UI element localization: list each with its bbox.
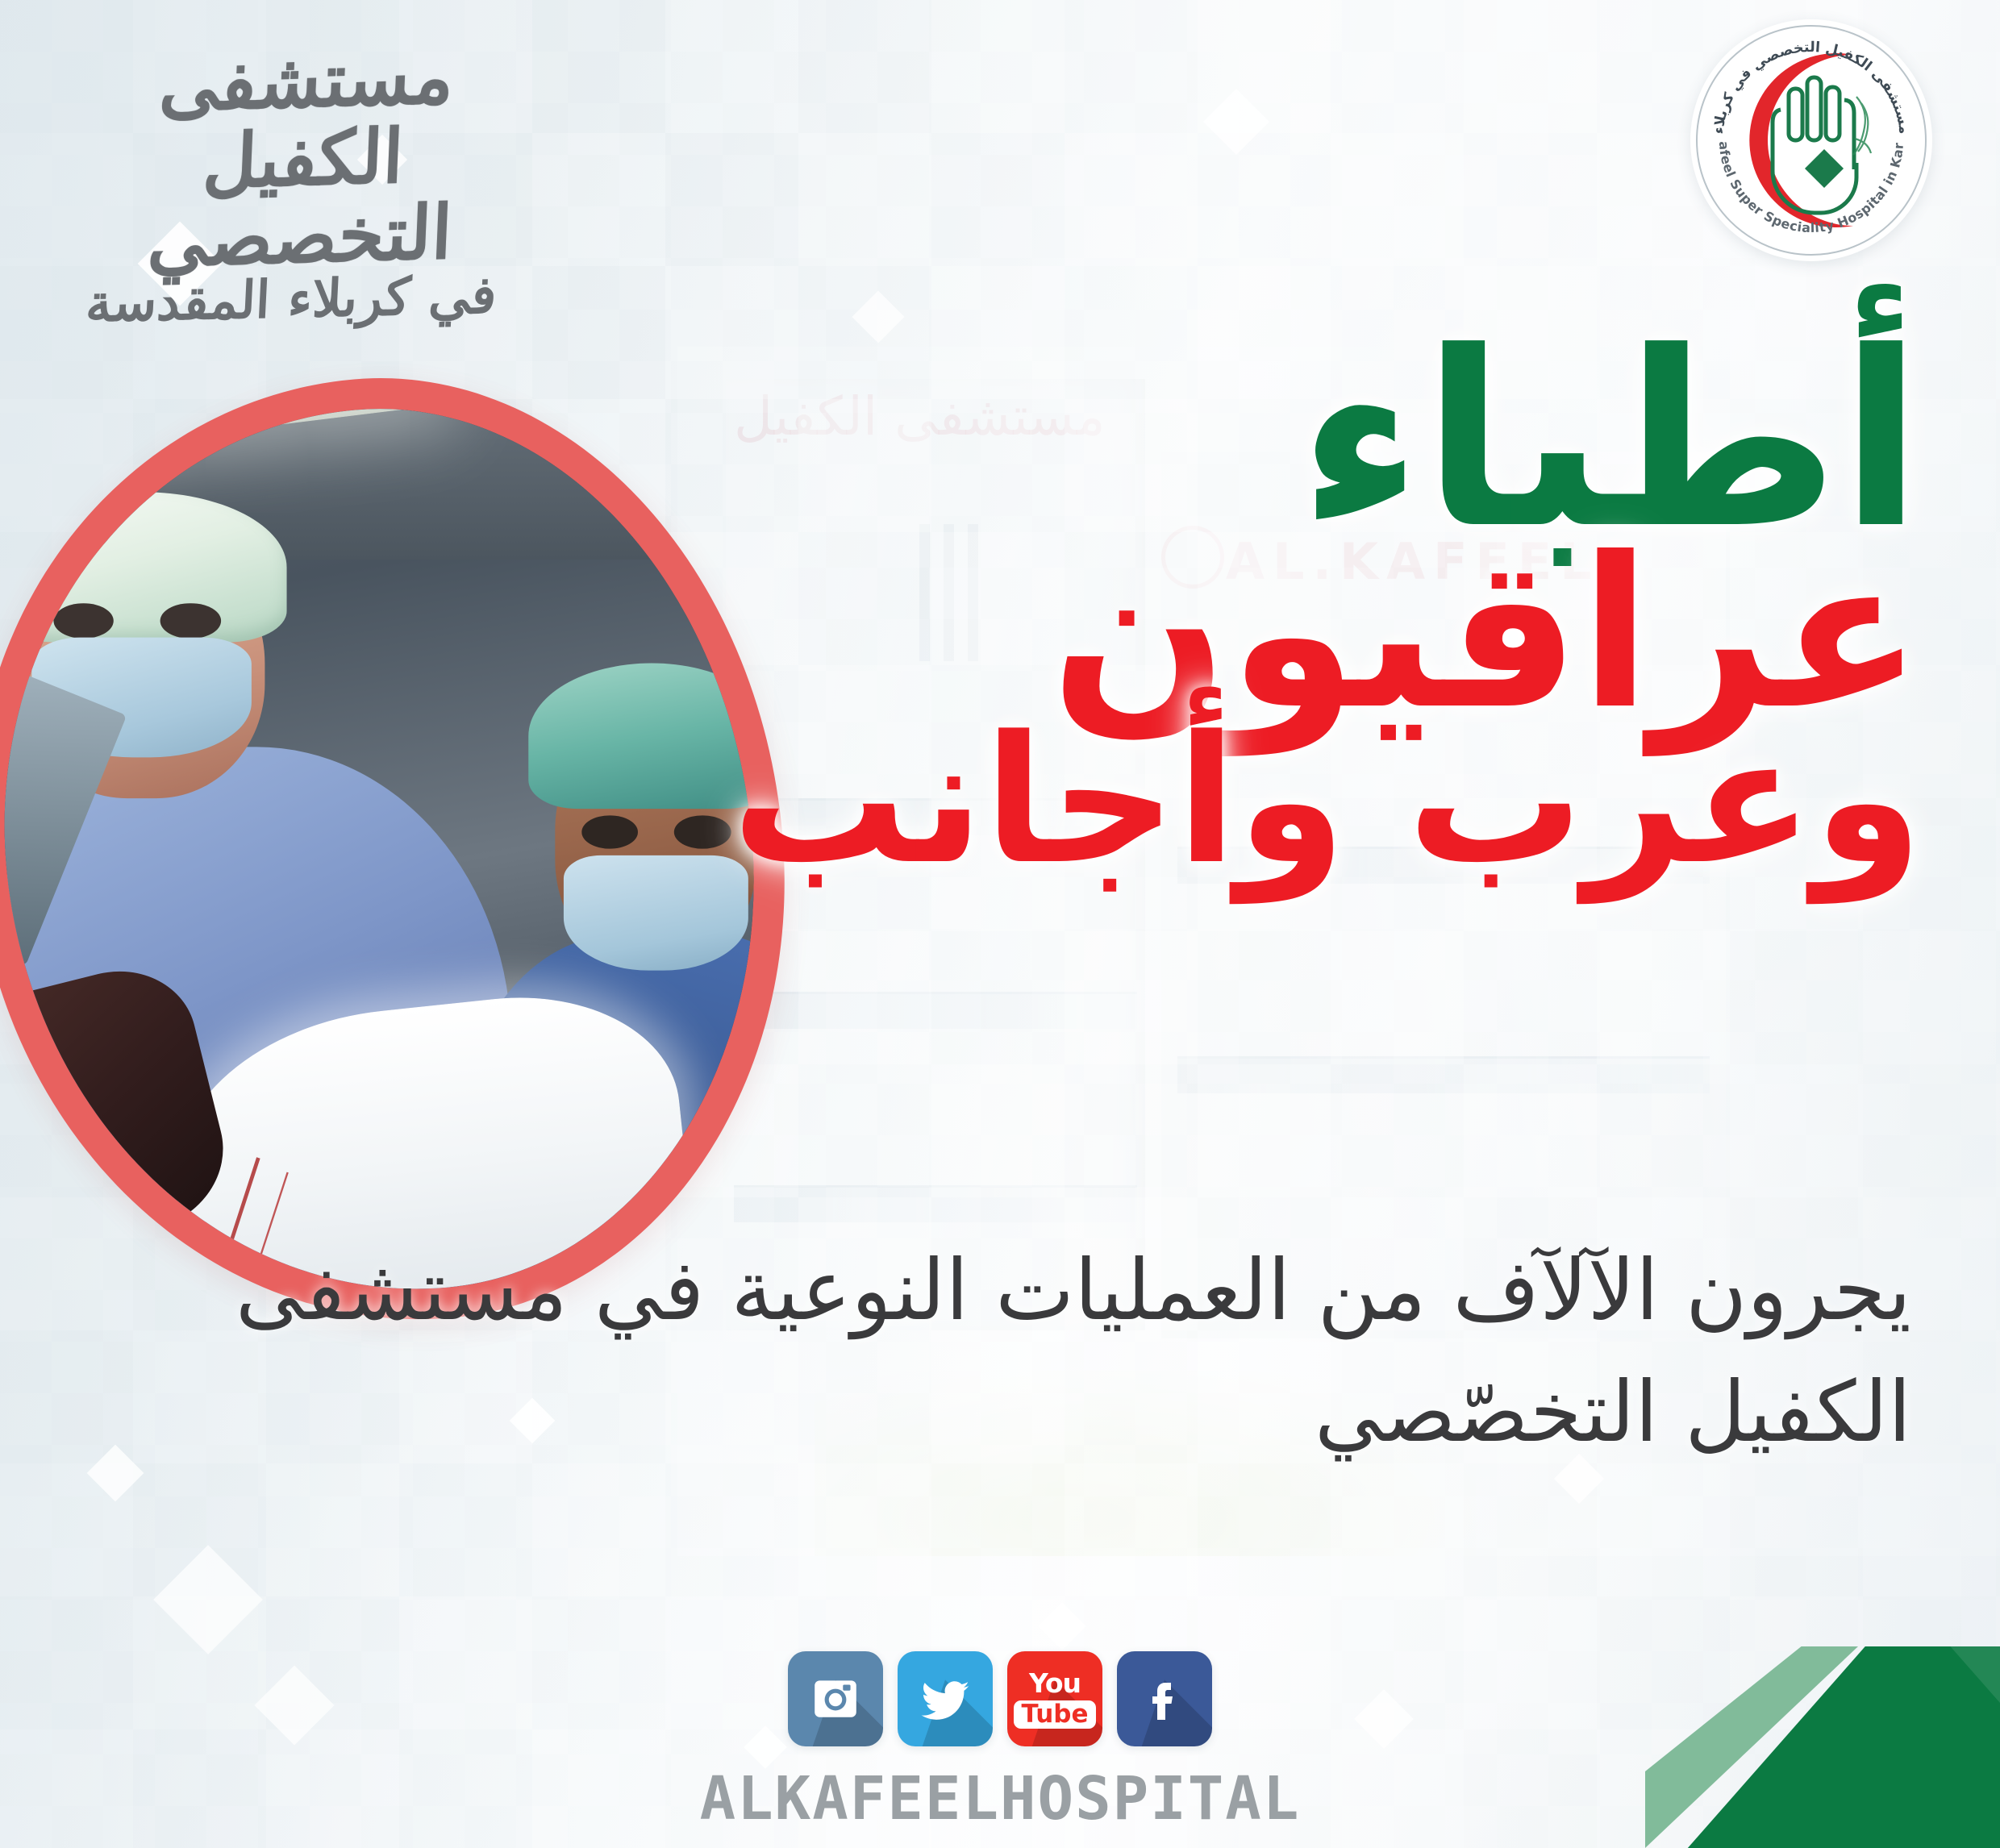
calligraphy-line-2: في كربلاء المقدسة: [76, 268, 506, 331]
blob-photo-mask: [0, 379, 789, 1322]
instagram-icon[interactable]: [788, 1651, 883, 1746]
social-handle: ALKAFEELHOSPITAL: [0, 1764, 2000, 1833]
headline-line-3: وعرب وأجانب: [745, 715, 1923, 888]
twitter-icon[interactable]: [898, 1651, 993, 1746]
surgeon-left-eyes: [54, 603, 221, 639]
surgeon-right-eyes: [581, 815, 731, 848]
calligraphy-line-1: مستشفى الكفيل التخصصي: [72, 35, 534, 281]
surgery-photo-blob: [0, 379, 782, 1322]
headline-block: أطباء عراقيون وعرب وأجانب: [745, 323, 1923, 887]
poster-canvas: مستشفى الكفيل AL.KAFEEL مستشفى الكفيل ال…: [0, 0, 2000, 1848]
facebook-icon[interactable]: [1117, 1651, 1212, 1746]
youtube-label-top: You: [1014, 1670, 1095, 1696]
hospital-logo[interactable]: مستشفى الكفيل التخصصي في كربلاء Al-Kafee…: [1690, 19, 1932, 261]
hospital-calligraphy-wordmark: مستشفى الكفيل التخصصي في كربلاء المقدسة: [77, 42, 529, 327]
youtube-label-bottom: Tube: [1014, 1700, 1095, 1729]
logo-artwork-icon: مستشفى الكفيل التخصصي في كربلاء Al-Kafee…: [1690, 19, 1932, 261]
surgeon-right-face-mask: [564, 855, 748, 970]
body-paragraph: يجرون الآلآف من العمليات النوعية في مستش…: [153, 1230, 1911, 1473]
svg-text:مستشفى الكفيل التخصصي في كربلا: مستشفى الكفيل التخصصي في كربلاء: [1710, 40, 1912, 135]
youtube-icon[interactable]: You Tube: [1007, 1651, 1102, 1746]
social-links-row: You Tube: [0, 1651, 2000, 1746]
surgery-scene: [0, 379, 789, 1322]
